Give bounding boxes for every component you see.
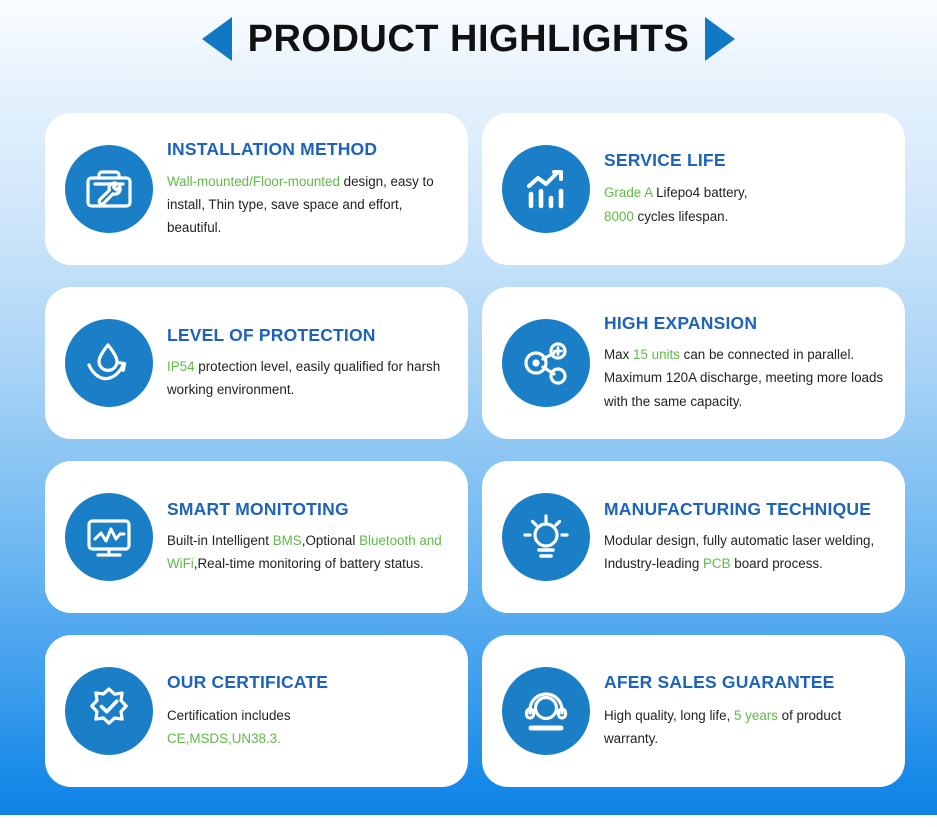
network-expansion-plus-icon — [502, 319, 590, 407]
card-title: LEVEL OF PROTECTION — [167, 325, 448, 346]
highlight-text: CE,MSDS,UN38.3. — [167, 731, 281, 746]
card-body: Max 15 units can be connected in paralle… — [604, 343, 885, 412]
headset-support-icon — [502, 667, 590, 755]
highlight-text: 8000 — [604, 209, 634, 224]
highlight-text: PCB — [703, 556, 731, 571]
card-text: INSTALLATION METHOD Wall-mounted/Floor-m… — [167, 139, 452, 239]
card-body: Wall-mounted/Floor-mounted design, easy … — [167, 170, 448, 239]
highlight-card-installation-method[interactable]: INSTALLATION METHOD Wall-mounted/Floor-m… — [45, 113, 468, 265]
card-title: SERVICE LIFE — [604, 150, 885, 171]
highlight-card-smart-monitoring[interactable]: SMART MONITOTING Built-in Intelligent BM… — [45, 461, 468, 613]
body-text: High quality, long life, — [604, 708, 734, 723]
monitor-waveform-icon — [65, 493, 153, 581]
card-title: MANUFACTURING TECHNIQUE — [604, 499, 885, 520]
highlight-text: 5 years — [734, 708, 778, 723]
toolbox-wrench-icon — [65, 145, 153, 233]
body-text: ,Optional — [302, 533, 359, 548]
highlight-text: Grade A — [604, 185, 652, 200]
page-title: PRODUCT HIGHLIGHTS — [248, 18, 690, 61]
body-text: board process. — [731, 556, 823, 571]
card-title: AFER SALES GUARANTEE — [604, 672, 885, 693]
water-droplet-arrow-icon — [65, 319, 153, 407]
highlight-card-grid: INSTALLATION METHOD Wall-mounted/Floor-m… — [45, 113, 895, 787]
card-text: AFER SALES GUARANTEE High quality, long … — [604, 672, 889, 750]
body-text: Lifepo4 battery, — [652, 185, 747, 200]
highlight-text: BMS — [273, 533, 302, 548]
highlight-card-service-life[interactable]: SERVICE LIFE Grade A Lifepo4 battery,800… — [482, 113, 905, 265]
highlight-card-level-of-protection[interactable]: LEVEL OF PROTECTION IP54 protection leve… — [45, 287, 468, 439]
card-title: INSTALLATION METHOD — [167, 139, 448, 160]
card-text: SERVICE LIFE Grade A Lifepo4 battery,800… — [604, 150, 889, 227]
highlight-card-manufacturing-technique[interactable]: MANUFACTURING TECHNIQUE Modular design, … — [482, 461, 905, 613]
body-text: Certification includes — [167, 708, 291, 723]
product-highlights-page: PRODUCT HIGHLIGHTS INSTALLATION METHOD W… — [0, 0, 937, 827]
card-body: High quality, long life, 5 years of prod… — [604, 704, 885, 750]
card-text: OUR CERTIFICATE Certification includesCE… — [167, 672, 452, 750]
card-title: SMART MONITOTING — [167, 499, 448, 520]
highlight-card-high-expansion[interactable]: HIGH EXPANSION Max 15 units can be conne… — [482, 287, 905, 439]
highlight-card-our-certificate[interactable]: OUR CERTIFICATE Certification includesCE… — [45, 635, 468, 787]
card-body: Built-in Intelligent BMS,Optional Blueto… — [167, 529, 448, 575]
card-title: OUR CERTIFICATE — [167, 672, 448, 693]
page-header: PRODUCT HIGHLIGHTS — [0, 8, 937, 70]
card-body: Grade A Lifepo4 battery,8000 cycles life… — [604, 181, 885, 227]
card-text: HIGH EXPANSION Max 15 units can be conne… — [604, 313, 889, 412]
lightbulb-idea-icon — [502, 493, 590, 581]
left-triangle-icon — [202, 17, 232, 61]
right-triangle-icon — [705, 17, 735, 61]
body-text: ,Real-time monitoring of battery status. — [194, 556, 424, 571]
card-body: Modular design, fully automatic laser we… — [604, 529, 885, 575]
highlight-text: Wall-mounted/Floor-mounted — [167, 174, 340, 189]
highlight-card-after-sales-guarantee[interactable]: AFER SALES GUARANTEE High quality, long … — [482, 635, 905, 787]
bar-chart-trend-icon — [502, 145, 590, 233]
card-text: MANUFACTURING TECHNIQUE Modular design, … — [604, 499, 889, 575]
body-text: cycles lifespan. — [634, 209, 729, 224]
body-text: Built-in Intelligent — [167, 533, 273, 548]
highlight-text: 15 units — [633, 347, 680, 362]
bottom-edge-strip — [0, 815, 937, 827]
body-text: protection level, easily qualified for h… — [167, 359, 440, 397]
card-title: HIGH EXPANSION — [604, 313, 885, 334]
highlight-text: IP54 — [167, 359, 195, 374]
body-text: Max — [604, 347, 633, 362]
card-text: LEVEL OF PROTECTION IP54 protection leve… — [167, 325, 452, 401]
card-text: SMART MONITOTING Built-in Intelligent BM… — [167, 499, 452, 575]
badge-check-icon — [65, 667, 153, 755]
card-body: Certification includesCE,MSDS,UN38.3. — [167, 704, 448, 750]
card-body: IP54 protection level, easily qualified … — [167, 355, 448, 401]
